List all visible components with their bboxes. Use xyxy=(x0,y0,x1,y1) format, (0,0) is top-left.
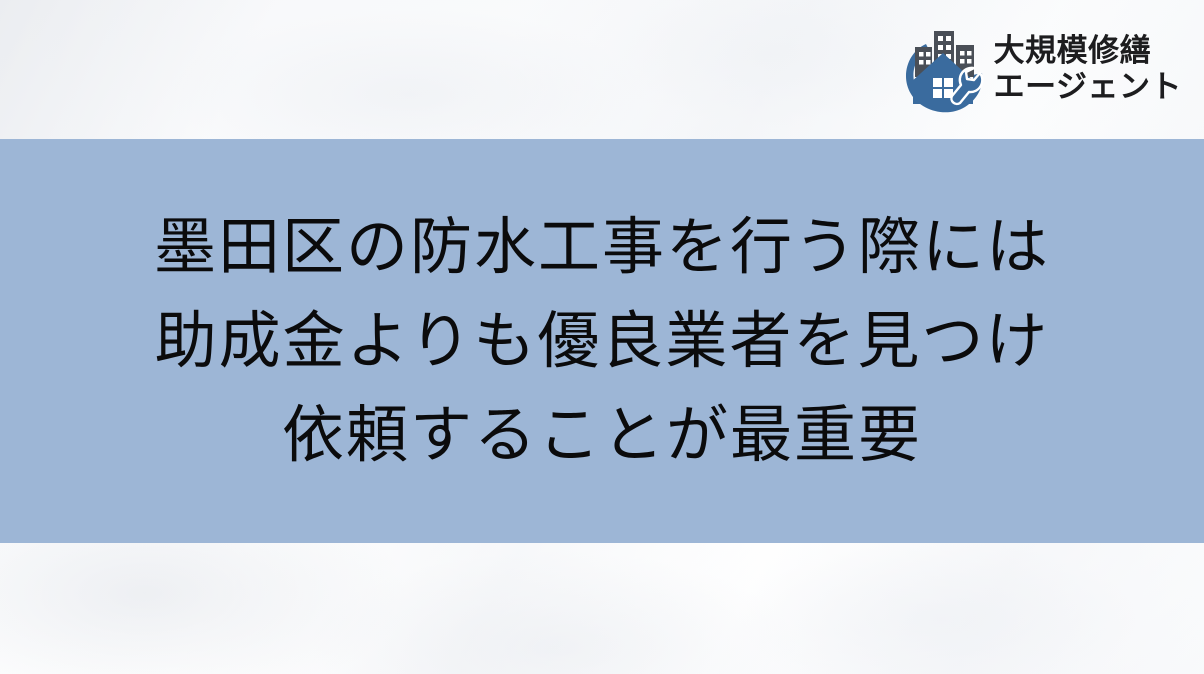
brand-wordmark: 大規模修繕 エージェント xyxy=(994,36,1182,103)
brand-name-line-1: 大規模修繕 xyxy=(994,36,1182,68)
headline-line-1: 墨田区の防水工事を行う際には xyxy=(154,200,1050,294)
headline-line-3: 依頼することが最重要 xyxy=(282,388,922,482)
brand-logo[interactable]: 大規模修繕 エージェント xyxy=(902,26,1182,114)
header-bar: 大規模修繕 エージェント xyxy=(0,0,1204,139)
headline-banner: 墨田区の防水工事を行う際には 助成金よりも優良業者を見つけ 依頼することが最重要 xyxy=(0,139,1204,543)
headline-line-2: 助成金よりも優良業者を見つけ xyxy=(155,294,1050,388)
house-buildings-wrench-logo-icon xyxy=(902,26,986,114)
slide-canvas: 大規模修繕 エージェント 墨田区の防水工事を行う際には 助成金よりも優良業者を見… xyxy=(0,0,1204,674)
brand-name-line-2: エージェント xyxy=(994,72,1182,104)
